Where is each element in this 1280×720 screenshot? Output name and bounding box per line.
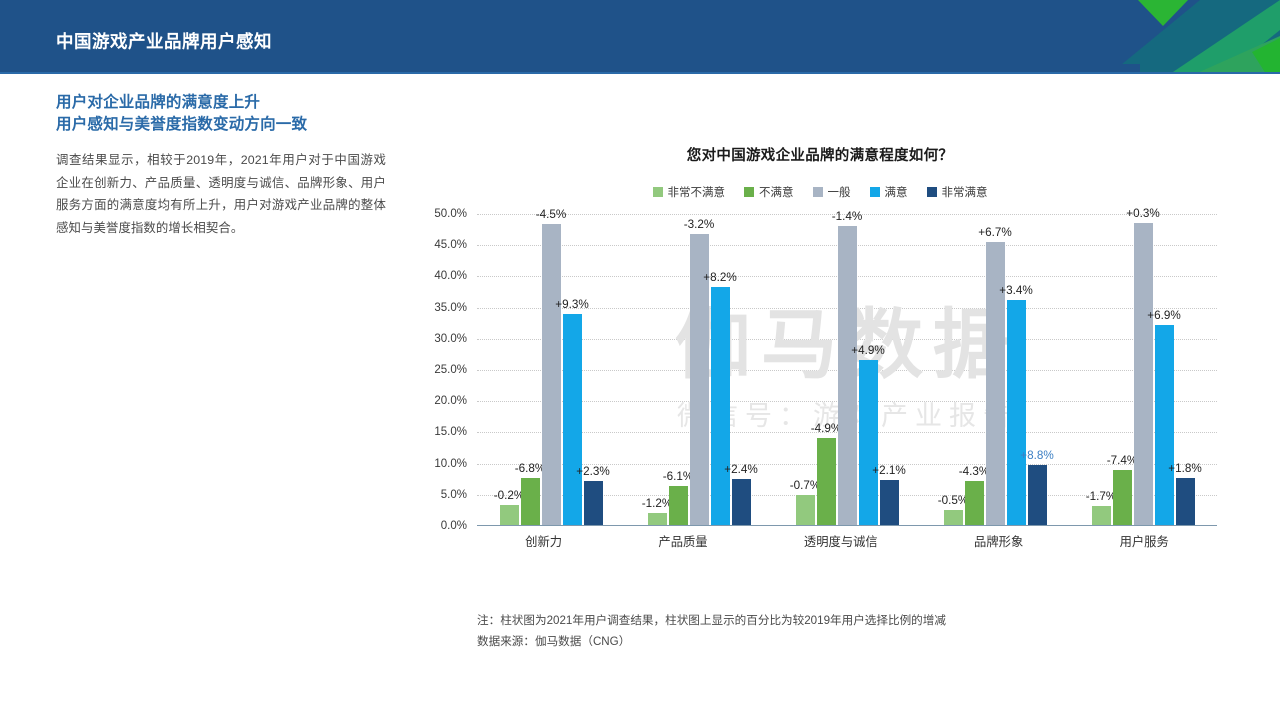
bar-groups: -0.2%-6.8%-4.5%+9.3%+2.3%-1.2%-6.1%-3.2%… [477, 214, 1217, 525]
plot-area: 伽马数据 微信号：游戏产业报告 -0.2%-6.8%-4.5%+9.3%+2.3… [477, 214, 1217, 526]
bar[interactable]: +1.8% [1176, 478, 1195, 524]
bar-value-label: +2.1% [872, 464, 905, 477]
bar[interactable]: -7.4% [1113, 470, 1132, 524]
bar-column: -4.5% [542, 214, 561, 525]
accent-shapes-svg [1020, 0, 1280, 74]
bar[interactable]: +6.9% [1155, 325, 1174, 525]
bar[interactable]: -0.2% [500, 505, 519, 524]
bar-column: +2.1% [880, 214, 899, 525]
bar-group-4: -1.7%-7.4%+0.3%+6.9%+1.8% [1092, 214, 1195, 525]
legend-swatch-icon [927, 187, 937, 197]
bar[interactable]: -0.5% [944, 510, 963, 524]
y-axis-tick-label: 10.0% [434, 458, 467, 470]
bar-group-1: -1.2%-6.1%-3.2%+8.2%+2.4% [648, 214, 751, 525]
bar-column: -6.8% [521, 214, 540, 525]
legend-label: 一般 [828, 184, 851, 200]
y-axis-tick-label: 0.0% [441, 520, 467, 532]
bar[interactable]: +9.3% [563, 314, 582, 524]
bar-column: -1.4% [838, 214, 857, 525]
bar-group-2: -0.7%-4.9%-1.4%+4.9%+2.1% [796, 214, 899, 525]
y-axis-tick-label: 35.0% [434, 302, 467, 314]
bar-column: -1.7% [1092, 214, 1111, 525]
bar-column: -0.7% [796, 214, 815, 525]
bar-column: +6.7% [986, 214, 1005, 525]
bar-value-label: +2.3% [576, 465, 609, 478]
footnote-source: 数据来源：伽马数据（CNG） [477, 631, 946, 652]
legend-item-2[interactable]: 一般 [813, 184, 851, 200]
bar-column: +1.8% [1176, 214, 1195, 525]
footnote-note: 注：柱状图为2021年用户调查结果，柱状图上显示的百分比为较2019年用户选择比… [477, 610, 946, 631]
bar[interactable]: -4.9% [817, 438, 836, 525]
bar[interactable]: +8.2% [711, 287, 730, 525]
y-axis-tick-label: 30.0% [434, 333, 467, 345]
bar[interactable]: -4.5% [542, 224, 561, 525]
chart-footnotes: 注：柱状图为2021年用户调查结果，柱状图上显示的百分比为较2019年用户选择比… [477, 610, 946, 652]
legend-swatch-icon [813, 187, 823, 197]
x-axis-category-label: 产品质量 [658, 532, 707, 550]
bar-column: +6.9% [1155, 214, 1174, 525]
page-title: 中国游戏产业品牌用户感知 [56, 29, 272, 54]
bar-column: -3.2% [690, 214, 709, 525]
bar-column: -6.1% [669, 214, 688, 525]
x-axis-category-label: 透明度与诚信 [804, 532, 878, 550]
bar-column: -0.2% [500, 214, 519, 525]
bar[interactable]: -6.8% [521, 478, 540, 524]
bar-column: -7.4% [1113, 214, 1132, 525]
bar-column: +8.8% [1028, 214, 1047, 525]
y-axis-tick-label: 20.0% [434, 395, 467, 407]
bar-column: -4.3% [965, 214, 984, 525]
chart-panel: 您对中国游戏企业品牌的满意程度如何？ 非常不满意不满意一般满意非常满意 50.0… [415, 92, 1225, 672]
bar[interactable]: +4.9% [859, 360, 878, 525]
header-geometric-accent [1020, 0, 1280, 74]
y-axis-tick-label: 50.0% [434, 208, 467, 220]
bar[interactable]: +3.4% [1007, 300, 1026, 524]
legend-label: 满意 [885, 184, 908, 200]
legend-swatch-icon [744, 187, 754, 197]
bar-group-3: -0.5%-4.3%+6.7%+3.4%+8.8% [944, 214, 1047, 525]
y-axis-tick-label: 25.0% [434, 364, 467, 376]
y-axis-tick-label: 15.0% [434, 426, 467, 438]
plot-wrapper: 50.0%45.0%40.0%35.0%30.0%25.0%20.0%15.0%… [415, 214, 1225, 544]
x-axis-labels: 创新力产品质量透明度与诚信品牌形象用户服务 [477, 532, 1217, 550]
bar-value-label: +2.4% [724, 463, 757, 476]
header-divider [0, 72, 1280, 74]
bar-column: +2.3% [584, 214, 603, 525]
y-axis: 50.0%45.0%40.0%35.0%30.0%25.0%20.0%15.0%… [415, 214, 471, 526]
bar-value-label: +8.8% [1020, 449, 1053, 462]
left-text-column: 用户对企业品牌的满意度上升 用户感知与美誉度指数变动方向一致 调查结果显示，相较… [56, 92, 386, 239]
bar[interactable]: +2.4% [732, 479, 751, 525]
chart-legend: 非常不满意不满意一般满意非常满意 [415, 184, 1225, 200]
lead-headline-line-2: 用户感知与美誉度指数变动方向一致 [56, 114, 386, 136]
y-axis-tick-label: 5.0% [441, 489, 467, 501]
y-axis-tick-label: 40.0% [434, 270, 467, 282]
y-axis-tick-label: 45.0% [434, 239, 467, 251]
page-header: 中国游戏产业品牌用户感知 [0, 0, 1280, 74]
bar[interactable]: +8.8% [1028, 465, 1047, 524]
bar[interactable]: +2.3% [584, 481, 603, 524]
legend-item-1[interactable]: 不满意 [744, 184, 794, 200]
bar-group-0: -0.2%-6.8%-4.5%+9.3%+2.3% [500, 214, 603, 525]
legend-item-0[interactable]: 非常不满意 [653, 184, 726, 200]
bar[interactable]: -1.7% [1092, 506, 1111, 524]
x-axis-category-label: 创新力 [525, 532, 562, 550]
bar[interactable]: -4.3% [965, 481, 984, 524]
bar-column: +2.4% [732, 214, 751, 525]
legend-item-4[interactable]: 非常满意 [927, 184, 988, 200]
bar-column: +0.3% [1134, 214, 1153, 525]
bar-column: +4.9% [859, 214, 878, 525]
x-axis-category-label: 品牌形象 [974, 532, 1023, 550]
bar-column: +8.2% [711, 214, 730, 525]
legend-item-3[interactable]: 满意 [870, 184, 908, 200]
bar[interactable]: +2.1% [880, 480, 899, 524]
legend-label: 不满意 [759, 184, 794, 200]
bar-column: +3.4% [1007, 214, 1026, 525]
bar[interactable]: -1.2% [648, 513, 667, 524]
bar[interactable]: -1.4% [838, 226, 857, 525]
bar[interactable]: -6.1% [669, 486, 688, 525]
body-paragraph: 调查结果显示，相较于2019年，2021年用户对于中国游戏企业在创新力、产品质量… [56, 149, 386, 239]
x-axis-baseline [477, 525, 1217, 527]
bar-value-label: +1.8% [1168, 462, 1201, 475]
chart-title: 您对中国游戏企业品牌的满意程度如何？ [415, 144, 1225, 165]
x-axis-category-label: 用户服务 [1120, 532, 1169, 550]
bar-column: -4.9% [817, 214, 836, 525]
bar[interactable]: +0.3% [1134, 223, 1153, 524]
legend-swatch-icon [870, 187, 880, 197]
legend-swatch-icon [653, 187, 663, 197]
bar[interactable]: -0.7% [796, 495, 815, 525]
legend-label: 非常不满意 [668, 184, 726, 200]
lead-headline-line-1: 用户对企业品牌的满意度上升 [56, 92, 386, 114]
legend-label: 非常满意 [942, 184, 988, 200]
